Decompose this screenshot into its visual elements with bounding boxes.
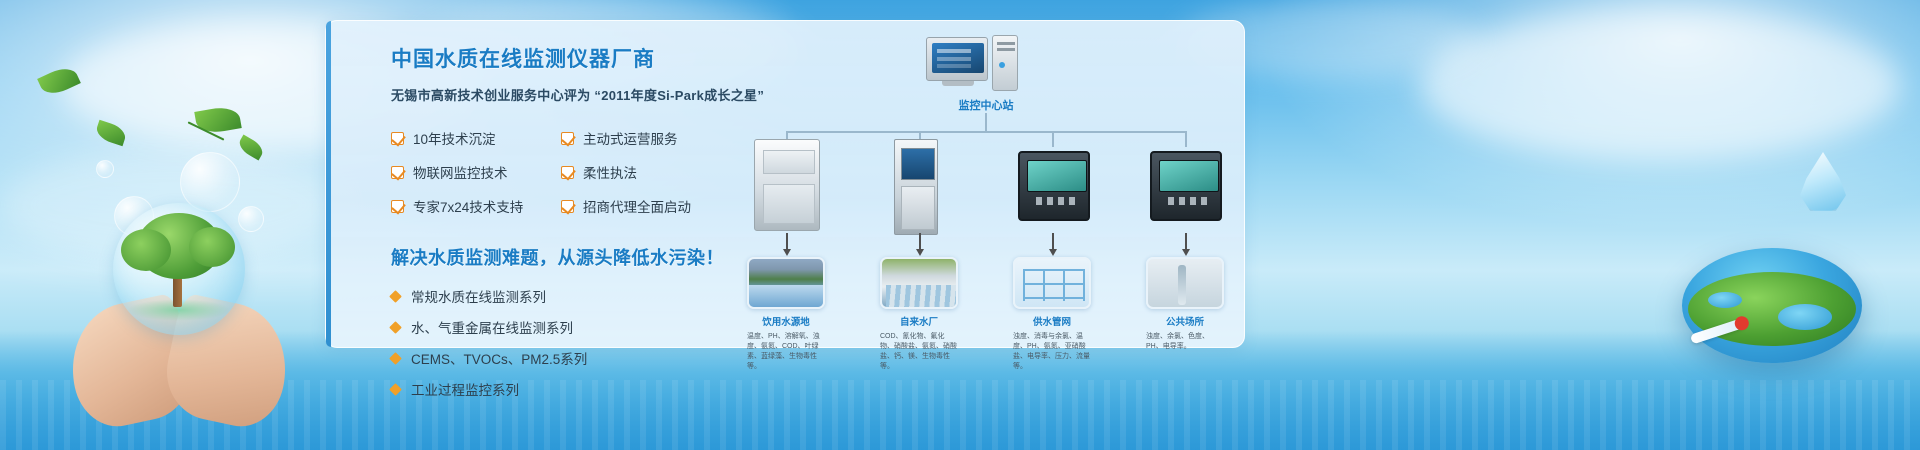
- arrow-down-icon: [919, 233, 921, 251]
- diamond-bullet-icon: [389, 352, 402, 365]
- list-item: 水、气重金属在线监测系列: [391, 317, 781, 337]
- hero-card: 中国水质在线监测仪器厂商 无锡市高新技术创业服务中心评为 “2011年度Si-P…: [325, 20, 1245, 348]
- scenario-photo-pipe-network: [1013, 257, 1091, 309]
- green-globe-illustration: [1682, 218, 1872, 388]
- arrow-down-icon: [1185, 233, 1187, 251]
- pc-tower-icon: [992, 35, 1018, 91]
- connector-vertical: [985, 113, 987, 131]
- water-droplet-icon: [1800, 152, 1846, 212]
- scenario-card[interactable]: 公共场所 浊度、余氯、色度、PH、电导率。: [1146, 257, 1224, 352]
- device-row: [746, 139, 1226, 239]
- scenario-caption: 公共场所: [1146, 314, 1224, 328]
- scenario-description: 浊度、余氯、色度、PH、电导率。: [1146, 332, 1224, 352]
- scenario-description: 浊度、消毒与余氯、温度、PH、氨氮、亚硝酸盐、电导率、压力、流量等。: [1013, 332, 1091, 373]
- list-item-label: 水、气重金属在线监测系列: [411, 317, 573, 337]
- feature-label: 10年技术沉淀: [413, 128, 496, 148]
- device-cabinet-icon: [754, 139, 820, 231]
- feature-label: 主动式运营服务: [583, 128, 678, 148]
- globe-lake-small: [1708, 292, 1742, 308]
- list-item: CEMS、TVOCs、PM2.5系列: [391, 348, 781, 368]
- connector-horizontal: [786, 131, 1186, 133]
- feature-label: 专家7x24技术支持: [413, 196, 523, 216]
- feature-item: 主动式运营服务: [561, 128, 731, 148]
- scenario-photo-public-place: [1146, 257, 1224, 309]
- feature-label: 招商代理全面启动: [583, 196, 691, 216]
- page-title: 中国水质在线监测仪器厂商: [391, 43, 781, 73]
- checkbox-checked-icon: [561, 132, 574, 145]
- page-subtitle: 无锡市高新技术创业服务中心评为 “2011年度Si-Park成长之星”: [391, 85, 781, 104]
- cloud-decoration: [1420, 10, 1900, 160]
- section-headline: 解决水质监测难题，从源头降低水污染！: [391, 244, 781, 270]
- feature-label: 物联网监控技术: [413, 162, 508, 182]
- device-analyzer-icon: [894, 139, 938, 235]
- scenario-caption: 饮用水源地: [747, 314, 825, 328]
- feature-checklist: 10年技术沉淀 主动式运营服务 物联网监控技术 柔性执法 专家7x24技术支持 …: [391, 128, 781, 216]
- globe-lake: [1778, 304, 1832, 330]
- arrow-down-icon: [786, 233, 788, 251]
- diamond-bullet-icon: [389, 290, 402, 303]
- diamond-bullet-icon: [389, 321, 402, 334]
- list-item: 常规水质在线监测系列: [391, 286, 781, 306]
- checkbox-checked-icon: [561, 200, 574, 213]
- scenario-caption: 自来水厂: [880, 314, 958, 328]
- arrow-down-icon: [1052, 233, 1054, 251]
- globe-sphere: [1682, 248, 1862, 363]
- list-item-label: 工业过程监控系列: [411, 379, 519, 399]
- product-series-list: 常规水质在线监测系列 水、气重金属在线监测系列 CEMS、TVOCs、PM2.5…: [391, 286, 781, 399]
- device-controller-icon: [1150, 151, 1222, 221]
- scenario-caption: 供水管网: [1013, 314, 1091, 328]
- hero-text-column: 中国水质在线监测仪器厂商 无锡市高新技术创业服务中心评为 “2011年度Si-P…: [391, 43, 781, 399]
- scenario-card[interactable]: 供水管网 浊度、消毒与余氯、温度、PH、氨氮、亚硝酸盐、电导率、压力、流量等。: [1013, 257, 1091, 373]
- control-center-computer-icon: [926, 35, 1046, 95]
- monitor-icon: [926, 37, 988, 81]
- checkbox-checked-icon: [561, 166, 574, 179]
- device-controller-icon: [1018, 151, 1090, 221]
- diamond-bullet-icon: [389, 383, 402, 396]
- list-item-label: 常规水质在线监测系列: [411, 286, 546, 306]
- scenario-card[interactable]: 饮用水源地 温度、PH、溶解氧、浊度、氨氮、COD、叶绿素、蓝绿藻、生物毒性等。: [747, 257, 825, 373]
- bubble-decoration: [96, 160, 114, 178]
- scenario-photo-water-plant: [880, 257, 958, 309]
- feature-item: 专家7x24技术支持: [391, 196, 561, 216]
- checkbox-checked-icon: [391, 200, 404, 213]
- scenario-photo-water-source: [747, 257, 825, 309]
- monitor-screen: [932, 43, 984, 73]
- monitoring-topology-diagram: 监控中心站 饮用水源地 温度、PH、溶解氧、浊度、氨氮、COD、叶绿素、蓝绿藻、…: [746, 35, 1226, 345]
- scenario-description: COD、氰化物、氟化物、硝酸盐、氨氮、硝酸盐、钙、镁、生物毒性等。: [880, 332, 958, 373]
- feature-item: 招商代理全面启动: [561, 196, 731, 216]
- list-item-label: CEMS、TVOCs、PM2.5系列: [411, 348, 587, 368]
- tree-canopy: [137, 213, 221, 279]
- list-item: 工业过程监控系列: [391, 379, 781, 399]
- hands-holding-tree-illustration: [65, 195, 295, 445]
- checkbox-checked-icon: [391, 166, 404, 179]
- monitor-stand: [942, 81, 974, 86]
- feature-item: 柔性执法: [561, 162, 731, 182]
- feature-label: 柔性执法: [583, 162, 637, 182]
- center-node-label: 监控中心站: [896, 97, 1076, 113]
- feature-item: 物联网监控技术: [391, 162, 561, 182]
- scenario-card[interactable]: 自来水厂 COD、氰化物、氟化物、硝酸盐、氨氮、硝酸盐、钙、镁、生物毒性等。: [880, 257, 958, 373]
- feature-item: 10年技术沉淀: [391, 128, 561, 148]
- checkbox-checked-icon: [391, 132, 404, 145]
- scenario-description: 温度、PH、溶解氧、浊度、氨氮、COD、叶绿素、蓝绿藻、生物毒性等。: [747, 332, 825, 373]
